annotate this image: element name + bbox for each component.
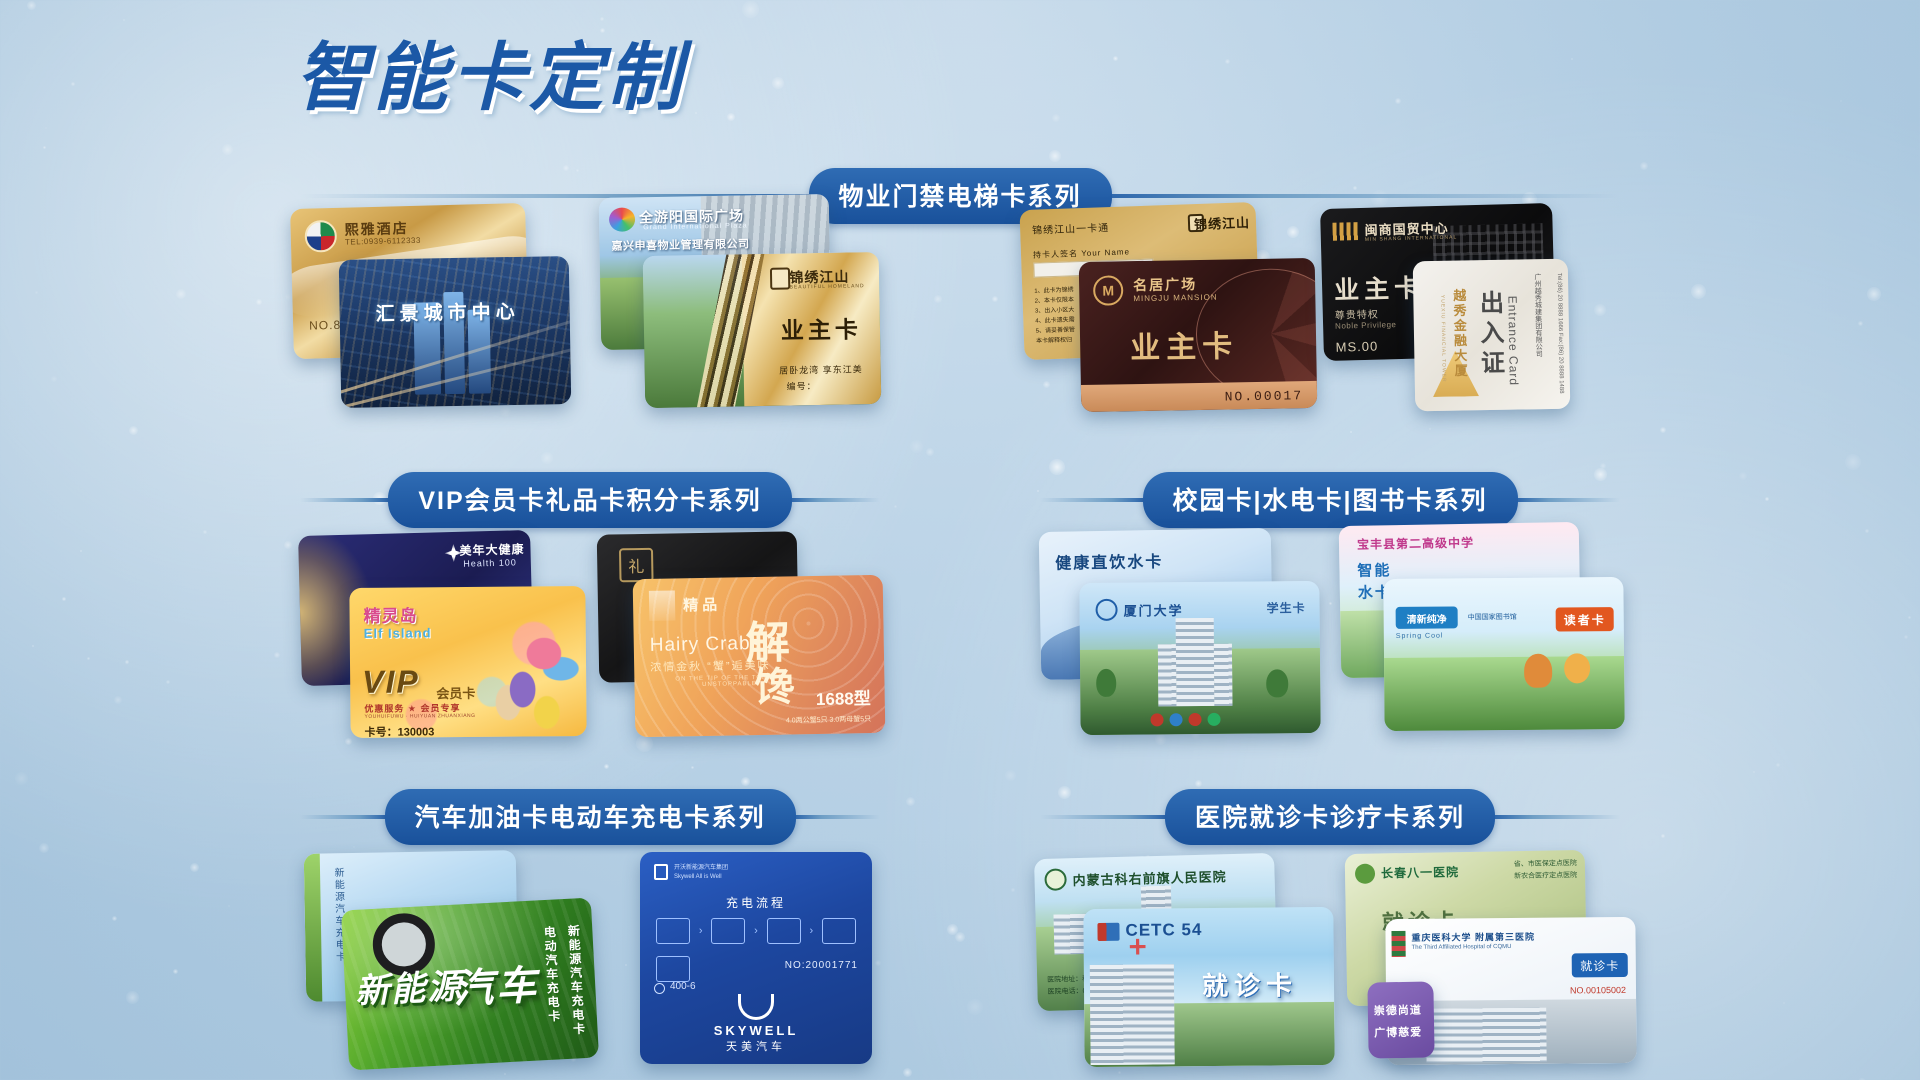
health100-name-cn: 美年大健康 <box>459 540 524 559</box>
vip-label: VIP <box>362 663 420 701</box>
skywell-tagline: Skywell All is Well <box>674 874 722 880</box>
gift-logo-icon: 礼 <box>619 548 654 583</box>
hotel-tel: TEL:0939-6112333 <box>345 236 421 247</box>
tree-shape <box>1524 654 1552 688</box>
card-group-hospital-right: 长春八一医院 省、市医保定点医院 新农合医疗定点医院 就诊卡 重庆医科大学 附属… <box>1346 846 1676 1066</box>
jinxiu-crest-icon <box>770 267 790 289</box>
card-group-vip-right: 礼 精品 Hairy Crabs 浓情金秋 “蟹”逅美味 ON THE TIP … <box>598 525 928 740</box>
card-group-fuel-right: 开沃新能源汽车集团 Skywell All is Well 充电流程 › › ›… <box>640 846 940 1066</box>
entrance-card-label-cn: 出入证 <box>1471 290 1508 381</box>
card-group-property-left: 熙雅酒店 TEL:0939-6112333 NO.80 汇景城市中心 <box>292 200 622 410</box>
section-title-fuel[interactable]: 汽车加油卡电动车充电卡系列 <box>385 789 796 845</box>
hospital-logo-icon <box>1044 868 1067 891</box>
library-name: 中国国家图书馆 <box>1468 612 1517 622</box>
cqmu-name-cn: 重庆医科大学 附属第三医院 <box>1411 930 1535 944</box>
card-group-vip-left: 美年大健康 Health 100 精灵岛 Elf Island VIP 会员卡 … <box>300 525 630 740</box>
spring-cool-en: Spring Cool <box>1396 633 1444 640</box>
xiamen-university-student-card[interactable]: 厦门大学 学生卡 <box>1079 581 1320 735</box>
new-energy-vehicle-card[interactable]: 新能源 汽车 新能源汽车充电卡 电动汽车充电卡 <box>341 898 599 1071</box>
nev-title-1: 新能源 <box>354 958 464 1013</box>
section-title-vip[interactable]: VIP会员卡礼品卡积分卡系列 <box>388 472 791 528</box>
charging-flow-steps: › › › <box>656 918 856 944</box>
health100-name-en: Health 100 <box>463 557 517 568</box>
entrance-card[interactable]: 出入证 Entrance Card 越秀金融大厦 YUEXIU FINANCIA… <box>1413 259 1571 412</box>
pavilion-icon <box>649 590 676 620</box>
cetc54-medical-card[interactable]: CETC 54 就诊卡 <box>1083 907 1334 1067</box>
header-rule-left <box>1040 498 1143 502</box>
cqmu-card-number: NO.00105002 <box>1570 985 1626 995</box>
water-card-title: 健康直饮水卡 <box>1055 548 1163 574</box>
hospital-logo-icon <box>1355 864 1375 884</box>
tree-shape <box>1096 669 1116 697</box>
student-card-label: 学生卡 <box>1266 599 1305 616</box>
elf-island-vip-card[interactable]: 精灵岛 Elf Island VIP 会员卡 优惠服务 ★ 会员专享 YOUHU… <box>349 586 586 738</box>
tree-shape <box>1266 669 1288 697</box>
premium-label: 精品 <box>683 594 721 616</box>
medical-card-label: 就诊卡 <box>1202 965 1298 1003</box>
smart-label: 智能 <box>1357 559 1391 581</box>
building-shape <box>1176 618 1215 706</box>
spring-cool-badge: 清新纯净 <box>1396 606 1458 629</box>
mingju-name-en: MINGJU MANSION <box>1133 293 1217 303</box>
hotel-logo-icon <box>304 220 337 253</box>
skywell-name-cn: 天美汽车 <box>726 1038 786 1054</box>
minshang-privilege-cn: 尊贵特权 <box>1335 306 1379 322</box>
header-rule-right <box>796 815 881 819</box>
skywell-name-en: SKYWELL <box>714 1023 799 1038</box>
elf-island-name-cn: 精灵岛 <box>363 601 417 626</box>
huijing-city-center-card[interactable]: 汇景城市中心 <box>339 256 572 408</box>
terms-line-3: 3、出入小区大 <box>1035 304 1075 314</box>
medical-cross-icon <box>1130 939 1146 955</box>
skywell-hotline: 400-6 <box>670 981 696 992</box>
mingju-logo-icon: M <box>1093 275 1124 306</box>
hospital-building <box>1090 964 1175 1065</box>
cqmu-name-en: The Third Affiliated Hospital of CQMU <box>1412 944 1512 951</box>
header-rule-right <box>1495 815 1620 819</box>
tree-shape <box>1564 653 1590 683</box>
mingju-mansion-owner-card[interactable]: M 名居广场 MINGJU MANSION 业主卡 NO.00017 <box>1079 258 1318 412</box>
vip-card-number: 卡号：130003 <box>365 723 435 738</box>
minshang-logo-icon <box>1332 222 1358 241</box>
hairy-crabs-gift-card[interactable]: 精品 Hairy Crabs 浓情金秋 “蟹”逅美味 ON THE TIP OF… <box>633 575 886 737</box>
section-header-vip: VIP会员卡礼品卡积分卡系列 <box>300 472 880 528</box>
terms-line-4: 4、此卡遗失需 <box>1035 314 1075 324</box>
header-rule-right <box>792 498 880 502</box>
charging-flow-step-5 <box>656 956 690 982</box>
university-name: 厦门大学 <box>1123 600 1183 620</box>
chongde-line-1: 崇德尚道 <box>1374 1002 1422 1019</box>
skywell-card-number: NO:20001771 <box>785 960 858 971</box>
campus-badges <box>1150 713 1220 727</box>
medical-card-badge: 就诊卡 <box>1572 953 1628 977</box>
entrance-card-label-en: Entrance Card <box>1505 296 1521 387</box>
jinxiu-jiangshan-owner-card[interactable]: 锦绣江山 BEAUTIFUL HOMELAND 业主卡 居卧龙湾 享东江美 编号… <box>643 252 882 408</box>
phone-icon <box>654 983 665 994</box>
nev-title-2: 汽车 <box>452 952 541 1014</box>
header-rule-left <box>300 815 385 819</box>
card-group-property-right: 锦绣江山一卡通 锦绣江山 持卡人签名 Your Name 1、此卡为锦绣 2、本… <box>1022 198 1352 413</box>
card-group-property-far-right: 闽商国贸中心 MIN SHANG INTERNATIONAL 业主卡 尊贵特权 … <box>1322 198 1642 413</box>
city-center-name: 汇景城市中心 <box>375 297 519 327</box>
terms-line-1: 1、此卡为锦绣 <box>1034 284 1074 294</box>
cqmu-logo-icon <box>1391 931 1405 957</box>
plaza-logo-icon <box>609 207 635 231</box>
cetc-logo-icon <box>1097 923 1119 941</box>
cetc-name: CETC 54 <box>1125 920 1202 941</box>
skywell-charging-card[interactable]: 开沃新能源汽车集团 Skywell All is Well 充电流程 › › ›… <box>640 852 872 1064</box>
hospital-name: 长春八一医院 <box>1381 863 1459 881</box>
skywell-mark-icon <box>738 994 774 1020</box>
section-header-hospital: 医院就诊卡诊疗卡系列 <box>1040 789 1620 845</box>
skywell-logo-icon <box>654 864 668 880</box>
charging-flow-title: 充电流程 <box>726 894 786 911</box>
card-group-campus-left: 健康直饮水卡 厦门大学 学生卡 <box>1040 520 1370 735</box>
crab-spec: 4.0两公蟹5只 3.0两母蟹5只 <box>786 714 871 725</box>
card-group-fuel-left: 新能源汽车充电卡 新能源 汽车 新能源汽车充电卡 电动汽车充电卡 <box>305 846 635 1066</box>
elf-island-name-en: Elf Island <box>364 625 432 641</box>
hospital-building <box>1426 1008 1546 1063</box>
character-artwork <box>459 602 580 731</box>
mingju-card-number: NO.00017 <box>1225 388 1304 404</box>
skywell-brand-cn: 开沃新能源汽车集团 <box>674 862 728 871</box>
insurance-note-2: 新农合医疗定点医院 <box>1514 870 1577 881</box>
vip-slogan-py: YOUHUIFUWU · HUIYUAN ZHUANXIANG <box>364 713 475 720</box>
jinxiu-slogan: 居卧龙湾 享东江美 <box>779 362 863 376</box>
building-shape <box>1158 644 1177 706</box>
card-group-campus-right: 宝丰县第二高级中学 智能 水卡 清新纯净 Spring Cool 读者卡 中国国… <box>1340 520 1670 735</box>
owner-card-label: 业主卡 <box>1130 321 1239 367</box>
green-stripe <box>304 854 323 1002</box>
hairy-crabs-en: Hairy Crabs <box>650 633 762 657</box>
crab-character-2: 馋 <box>754 654 795 713</box>
member-card-label: 会员卡 <box>436 683 475 702</box>
reader-card-badge: 读者卡 <box>1556 607 1614 632</box>
plaza-company: 嘉兴申喜物业管理有限公司 <box>611 235 749 253</box>
allinone-brand: 锦绣江山 <box>1194 212 1251 233</box>
school-name: 宝丰县第二高级中学 <box>1357 534 1474 553</box>
page-title: 智能卡定制 <box>295 18 685 125</box>
tower-name-cn: 越秀金融大厦 <box>1449 288 1470 378</box>
minshang-card-number: MS.00 <box>1335 339 1378 355</box>
tower-company: 广州越秀城建集团有限公司 <box>1532 273 1543 357</box>
owner-card-label: 业主卡 <box>1334 268 1425 306</box>
section-header-fuel: 汽车加油卡电动车充电卡系列 <box>300 789 880 845</box>
insurance-note-1: 省、市医保定点医院 <box>1514 858 1577 869</box>
mingju-name-cn: 名居广场 <box>1133 274 1197 295</box>
crab-model: 1688型 <box>816 684 871 710</box>
minshang-privilege-en: Noble Privilege <box>1335 320 1397 331</box>
signature-label: 持卡人签名 Your Name <box>1033 246 1130 260</box>
terms-line-5: 5、请妥善保管 <box>1035 324 1075 334</box>
header-rule-left <box>1040 815 1165 819</box>
card-group-hospital-left: 内蒙古科右前旗人民医院 医院地址：科 医院电话：04 CETC 54 就诊卡 <box>1036 846 1376 1066</box>
header-rule-right <box>1518 498 1621 502</box>
terms-line-6: 本卡解释权归 <box>1036 334 1072 344</box>
allinone-title: 锦绣江山一卡通 <box>1032 219 1109 237</box>
building-shape <box>1214 644 1233 706</box>
chongde-purple-card[interactable]: 崇德尚道 广博慈爱 <box>1367 981 1434 1058</box>
terms-line-2: 2、本卡仅限本 <box>1034 294 1074 304</box>
card-group-property-mid: 全游阳国际广场 Grand International Plaza 嘉兴申喜物业… <box>592 196 912 411</box>
owner-card-label: 业主卡 <box>781 310 863 345</box>
xmu-logo-icon <box>1095 599 1117 621</box>
section-title-hospital[interactable]: 医院就诊卡诊疗卡系列 <box>1165 789 1495 845</box>
jinxiu-serial-label: 编号： <box>786 379 816 393</box>
hospital-name: 内蒙古科右前旗人民医院 <box>1072 866 1226 889</box>
header-rule-left <box>300 498 388 502</box>
library-reader-card[interactable]: 清新纯净 Spring Cool 读者卡 中国国家图书馆 <box>1383 577 1624 731</box>
chongde-line-2: 广博慈爱 <box>1374 1024 1422 1041</box>
